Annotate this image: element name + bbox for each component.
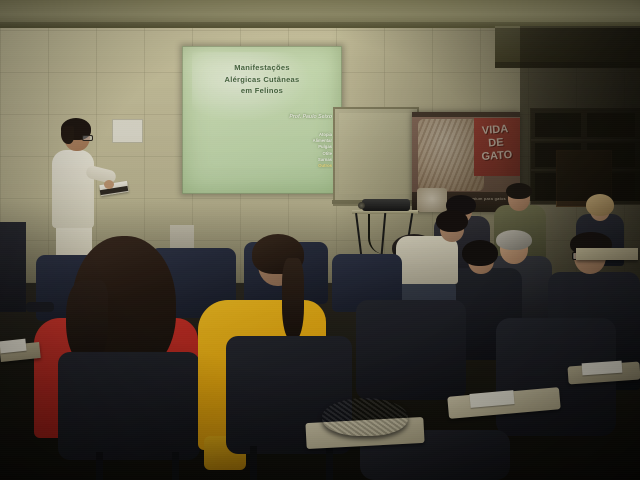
blonde-hair xyxy=(586,194,614,216)
tablet-arm-desk xyxy=(576,248,638,260)
chair-back xyxy=(356,300,466,400)
screen-border xyxy=(182,46,342,194)
hair xyxy=(462,240,498,266)
door-frame xyxy=(0,222,26,312)
corner-shadow xyxy=(520,26,640,201)
chair-leg xyxy=(172,452,179,480)
projector xyxy=(362,199,410,211)
chair-leg xyxy=(96,452,103,480)
chair-armrest xyxy=(26,302,54,312)
chair-leg xyxy=(326,446,333,480)
hair xyxy=(506,183,532,199)
hair xyxy=(436,210,468,232)
wall-notice xyxy=(112,119,143,143)
ponytail xyxy=(282,258,304,340)
white-shirt xyxy=(396,236,458,284)
grey-hair xyxy=(496,230,532,250)
knitted-hat xyxy=(322,398,408,436)
presenter-hand xyxy=(104,180,114,189)
glasses-icon xyxy=(82,135,93,141)
photo-scene: Manifestações Alérgicas Cutâneas em Feli… xyxy=(0,0,640,480)
presenter-shirt xyxy=(52,150,94,228)
projector-lens-icon xyxy=(358,202,365,209)
presenter-hair-side xyxy=(61,126,74,144)
chair-back xyxy=(58,352,200,460)
chair-leg xyxy=(250,446,257,480)
